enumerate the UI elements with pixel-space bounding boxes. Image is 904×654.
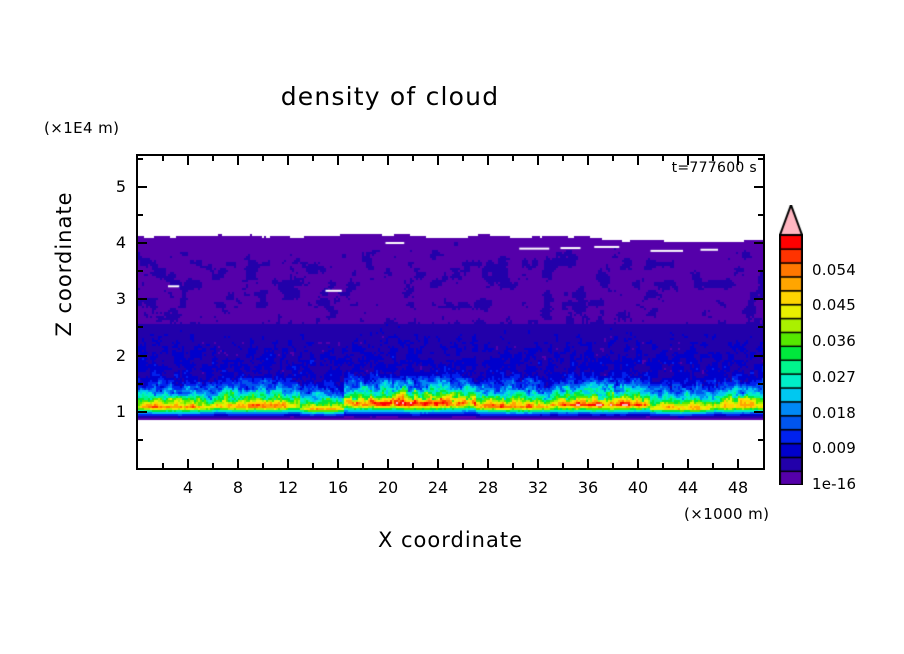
- x-tick-minor-26: [462, 463, 464, 468]
- x-tick-top-34: [562, 156, 564, 161]
- x-tick-top-30: [512, 156, 514, 161]
- x-tick-label-48: 48: [718, 478, 758, 497]
- x-tick-label-8: 8: [218, 478, 258, 497]
- x-axis-unit-label: (×1000 m): [684, 505, 769, 523]
- y-tick-label-5: 5: [96, 177, 126, 196]
- y-tick-right-0.5: [758, 439, 763, 441]
- colorbar-tick-label-5: 0.009: [812, 439, 856, 457]
- y-axis-title: Z coordinate: [52, 174, 76, 354]
- x-tick-minor-42: [662, 463, 664, 468]
- x-tick-top-22: [412, 156, 414, 161]
- x-tick-label-28: 28: [468, 478, 508, 497]
- y-tick-right-4: [754, 242, 763, 244]
- x-tick-top-4: [187, 156, 189, 165]
- x-tick-top-40: [637, 156, 639, 165]
- x-tick-minor-38: [612, 463, 614, 468]
- y-tick-major-4: [138, 242, 147, 244]
- x-tick-major-32: [537, 459, 539, 468]
- x-tick-minor-30: [512, 463, 514, 468]
- y-tick-right-5: [754, 186, 763, 188]
- x-tick-major-20: [387, 459, 389, 468]
- plot-area[interactable]: t=777600 s: [136, 154, 765, 470]
- x-tick-major-4: [187, 459, 189, 468]
- colorbar[interactable]: [779, 205, 803, 485]
- page-title: density of cloud: [0, 82, 780, 111]
- x-tick-major-40: [637, 459, 639, 468]
- x-tick-top-24: [437, 156, 439, 165]
- y-tick-label-3: 3: [96, 289, 126, 308]
- y-tick-right-5.5: [758, 158, 763, 160]
- x-tick-minor-34: [562, 463, 564, 468]
- x-tick-major-8: [237, 459, 239, 468]
- x-tick-major-36: [587, 459, 589, 468]
- y-tick-right-3: [754, 298, 763, 300]
- y-tick-right-4.5: [758, 214, 763, 216]
- x-tick-major-24: [437, 459, 439, 468]
- x-tick-top-12: [287, 156, 289, 165]
- x-tick-major-16: [337, 459, 339, 468]
- x-tick-top-28: [487, 156, 489, 165]
- y-tick-label-1: 1: [96, 402, 126, 421]
- x-tick-top-42: [662, 156, 664, 161]
- figure-root: density of cloud (×1E4 m) (×1000 m) t=77…: [0, 0, 904, 654]
- x-tick-label-36: 36: [568, 478, 608, 497]
- y-tick-minor-4.5: [138, 214, 143, 216]
- x-tick-top-10: [262, 156, 264, 161]
- x-tick-minor-2: [162, 463, 164, 468]
- x-tick-label-20: 20: [368, 478, 408, 497]
- x-tick-top-2: [162, 156, 164, 161]
- x-tick-minor-22: [412, 463, 414, 468]
- colorbar-tick-label-0: 0.054: [812, 261, 856, 279]
- y-tick-right-2.5: [758, 326, 763, 328]
- colorbar-tick-label-4: 0.018: [812, 404, 856, 422]
- colorbar-tick-label-6: 1e-16: [812, 475, 856, 493]
- y-tick-major-1: [138, 411, 147, 413]
- x-tick-top-38: [612, 156, 614, 161]
- y-tick-minor-5.5: [138, 158, 143, 160]
- time-stamp-annotation: t=777600 s: [672, 160, 757, 176]
- x-tick-label-44: 44: [668, 478, 708, 497]
- y-tick-minor-0.5: [138, 439, 143, 441]
- y-tick-right-1.5: [758, 383, 763, 385]
- x-tick-minor-6: [212, 463, 214, 468]
- x-tick-top-20: [387, 156, 389, 165]
- y-tick-label-2: 2: [96, 346, 126, 365]
- x-tick-major-28: [487, 459, 489, 468]
- z-axis-unit-label: (×1E4 m): [44, 119, 119, 137]
- x-tick-top-32: [537, 156, 539, 165]
- x-tick-top-26: [462, 156, 464, 161]
- x-tick-top-18: [362, 156, 364, 161]
- x-tick-top-8: [237, 156, 239, 165]
- y-tick-right-1: [754, 411, 763, 413]
- x-axis-title: X coordinate: [136, 528, 765, 552]
- density-field-heatmap: [138, 156, 763, 468]
- y-tick-major-5: [138, 186, 147, 188]
- x-tick-label-12: 12: [268, 478, 308, 497]
- x-tick-major-12: [287, 459, 289, 468]
- x-tick-label-4: 4: [168, 478, 208, 497]
- y-tick-major-2: [138, 355, 147, 357]
- x-tick-major-44: [687, 459, 689, 468]
- x-tick-label-24: 24: [418, 478, 458, 497]
- y-tick-major-3: [138, 298, 147, 300]
- y-tick-right-3.5: [758, 270, 763, 272]
- y-tick-label-4: 4: [96, 233, 126, 252]
- x-tick-label-40: 40: [618, 478, 658, 497]
- x-tick-top-36: [587, 156, 589, 165]
- x-tick-minor-18: [362, 463, 364, 468]
- colorbar-gradient: [779, 205, 803, 485]
- x-tick-minor-10: [262, 463, 264, 468]
- y-tick-minor-1.5: [138, 383, 143, 385]
- colorbar-tick-label-3: 0.027: [812, 368, 856, 386]
- y-tick-minor-2.5: [138, 326, 143, 328]
- x-tick-minor-14: [312, 463, 314, 468]
- x-tick-label-16: 16: [318, 478, 358, 497]
- x-tick-top-6: [212, 156, 214, 161]
- colorbar-tick-label-2: 0.036: [812, 332, 856, 350]
- colorbar-tick-label-1: 0.045: [812, 296, 856, 314]
- x-tick-minor-46: [712, 463, 714, 468]
- y-tick-minor-3.5: [138, 270, 143, 272]
- x-tick-major-48: [737, 459, 739, 468]
- x-tick-label-32: 32: [518, 478, 558, 497]
- y-tick-right-2: [754, 355, 763, 357]
- x-tick-top-14: [312, 156, 314, 161]
- x-tick-top-16: [337, 156, 339, 165]
